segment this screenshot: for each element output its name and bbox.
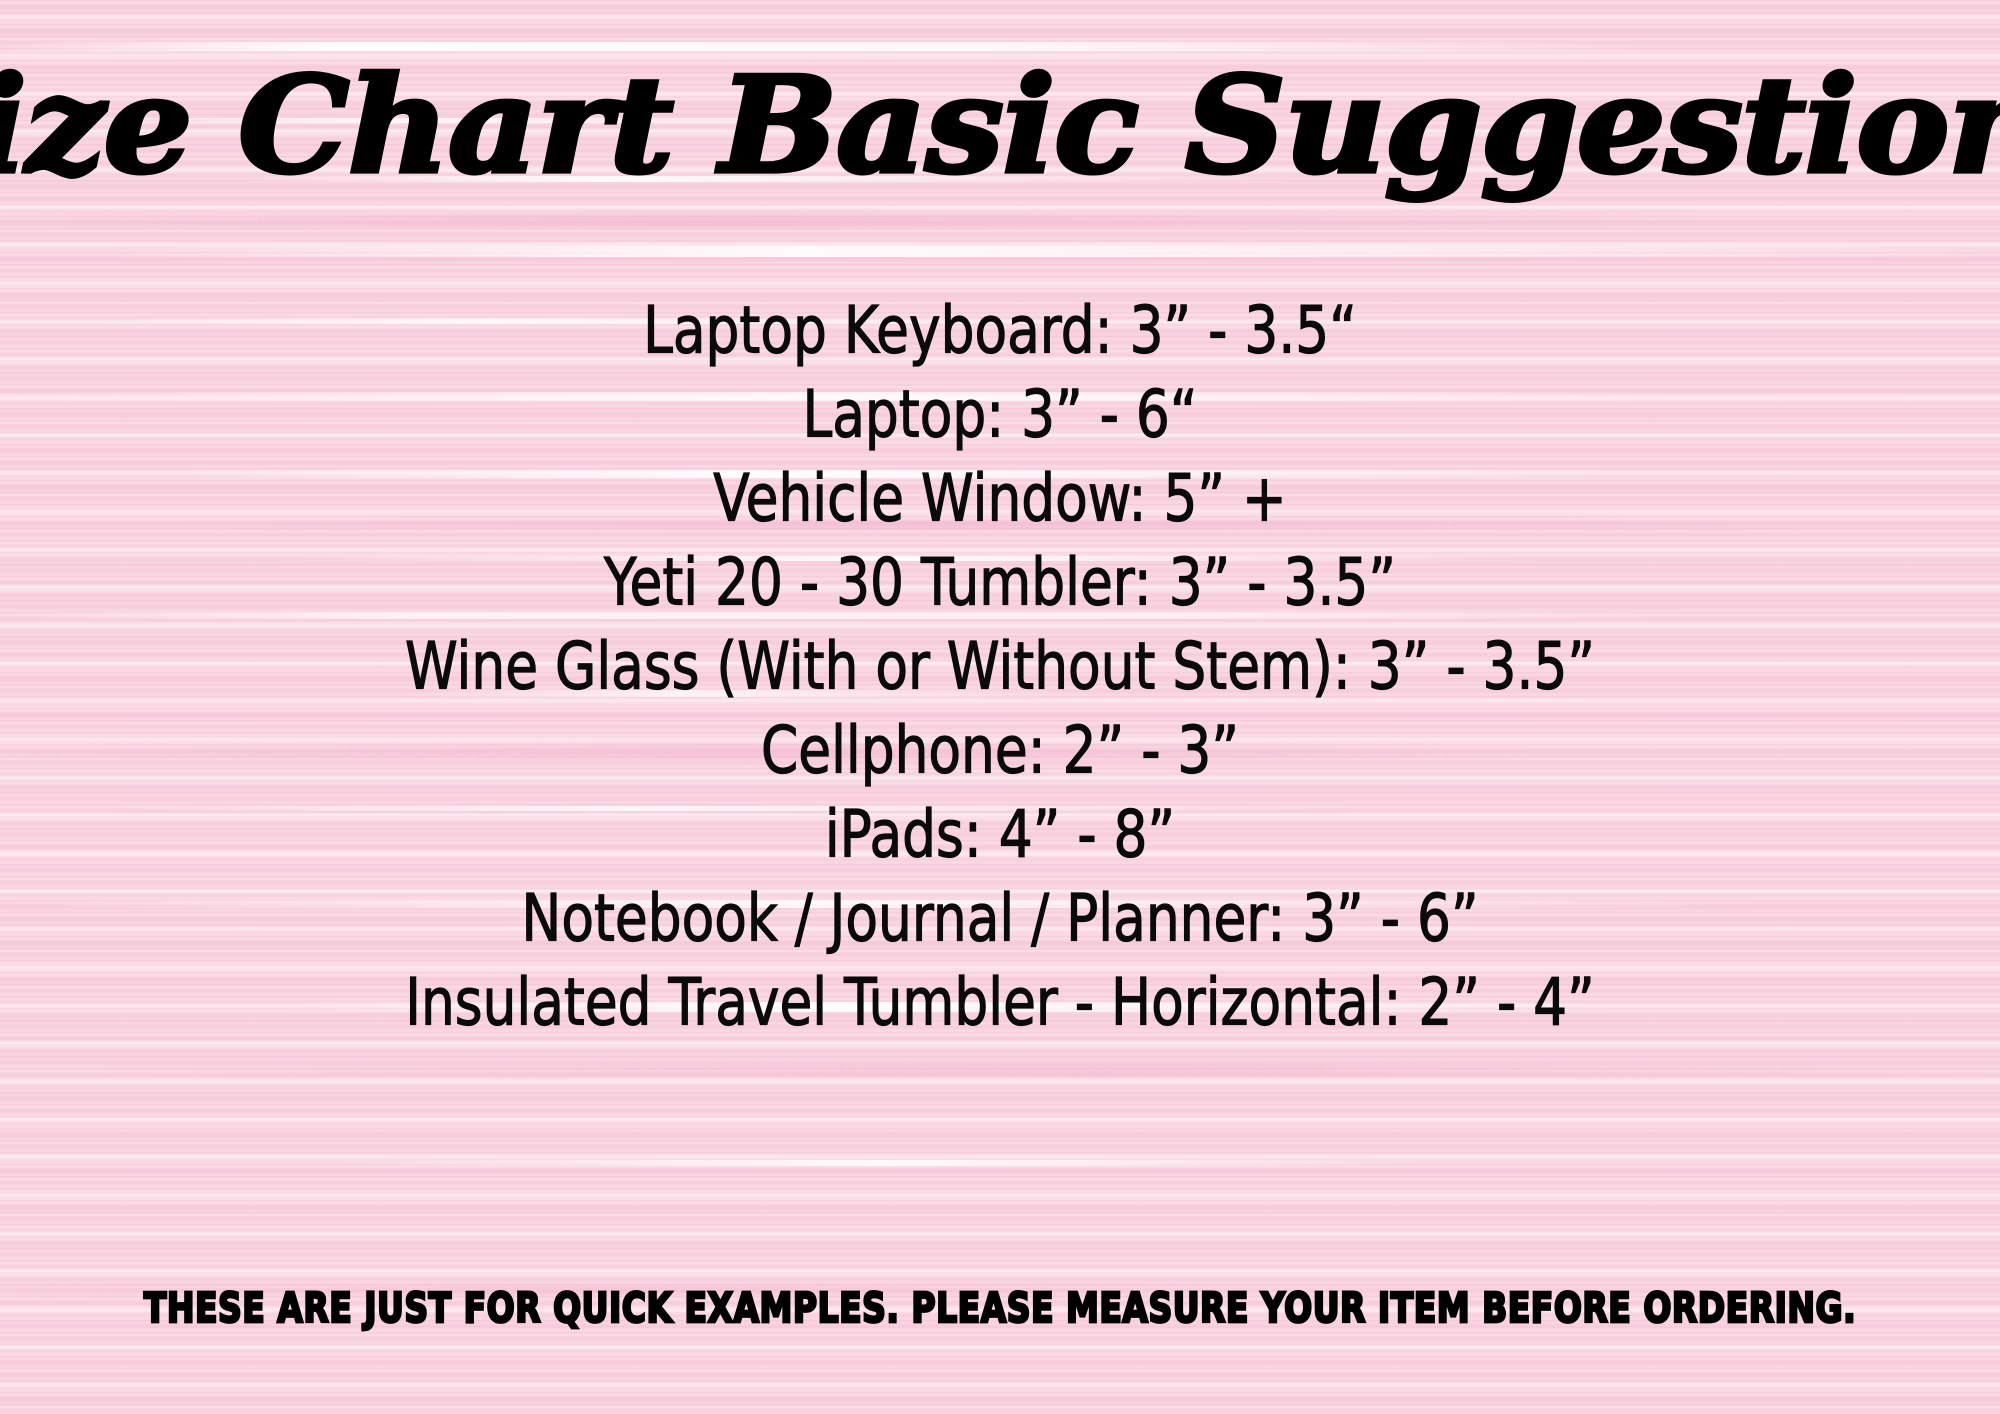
footer-disclaimer: These are just for quick examples. Pleas… xyxy=(0,1283,2000,1332)
suggestion-line: Wine Glass (With or Without Stem): 3” - … xyxy=(80,619,1920,713)
suggestion-line: Notebook / Journal / Planner: 3” - 6” xyxy=(80,871,1920,965)
suggestion-line: Cellphone: 2” - 3” xyxy=(80,703,1920,797)
poster-title: Size Chart Basic Suggestions xyxy=(0,56,2000,195)
size-chart-poster: Size Chart Basic Suggestions Laptop Keyb… xyxy=(0,0,2000,1414)
suggestion-line: Vehicle Window: 5” + xyxy=(80,451,1920,545)
suggestion-line: Insulated Travel Tumbler - Horizontal: 2… xyxy=(80,955,1920,1049)
poster-content: Size Chart Basic Suggestions Laptop Keyb… xyxy=(0,0,2000,1414)
suggestion-list: Laptop Keyboard: 3” - 3.5“ Laptop: 3” - … xyxy=(0,288,2000,1044)
suggestion-line: iPads: 4” - 8” xyxy=(80,787,1920,881)
suggestion-line: Yeti 20 - 30 Tumbler: 3” - 3.5” xyxy=(80,535,1920,629)
suggestion-line: Laptop Keyboard: 3” - 3.5“ xyxy=(80,283,1920,377)
suggestion-line: Laptop: 3” - 6“ xyxy=(80,367,1920,461)
